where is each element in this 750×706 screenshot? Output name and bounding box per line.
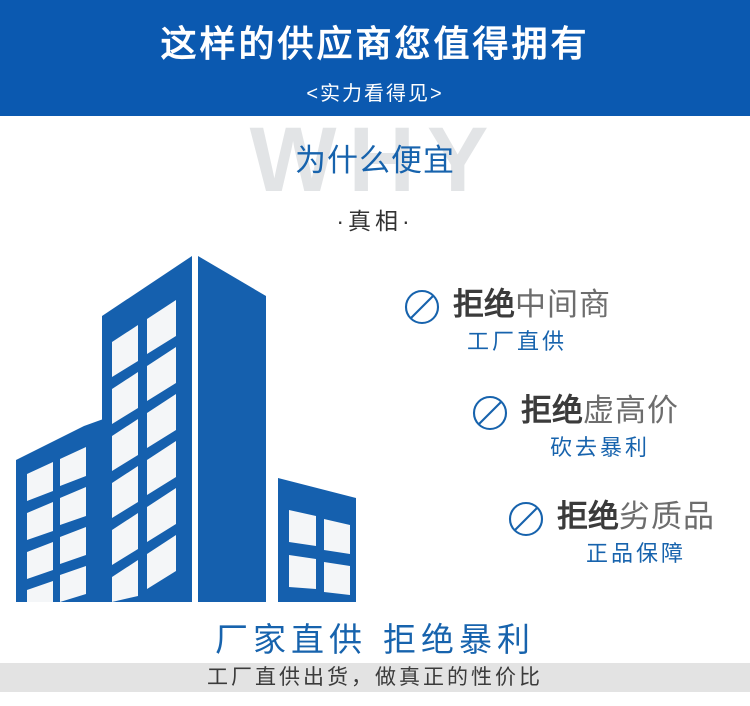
feature-strong-text: 拒绝 xyxy=(557,499,619,534)
footer-strip-text: 工厂直供出货，做真正的性价比 xyxy=(0,664,750,691)
list-item: 拒绝虚高价 砍去暴利 xyxy=(471,392,679,461)
city-buildings-illustration xyxy=(6,248,396,606)
feature-headline: 拒绝中间商 xyxy=(453,287,611,322)
prohibition-icon xyxy=(403,288,441,326)
list-item: 拒绝中间商 工厂直供 xyxy=(403,286,611,355)
feature-light-text: 虚高价 xyxy=(583,393,679,428)
feature-list: 拒绝中间商 工厂直供 拒绝虚高价 砍去暴利 xyxy=(395,286,750,596)
center-tower-side xyxy=(198,256,266,602)
feature-subtext: 正品保障 xyxy=(557,540,715,567)
footer-headline: 厂家直供拒绝暴利 xyxy=(0,620,750,660)
feature-headline: 拒绝虚高价 xyxy=(521,393,679,428)
feature-strong-text: 拒绝 xyxy=(453,287,515,322)
truth-label: ·真相· xyxy=(0,208,750,235)
header-subtitle: <实力看得见> xyxy=(0,82,750,106)
feature-light-text: 劣质品 xyxy=(619,499,715,534)
promo-page: 这样的供应商您值得拥有 <实力看得见> WHY 为什么便宜 ·真相· xyxy=(0,0,750,706)
footer-headline-right: 拒绝暴利 xyxy=(383,621,535,658)
feature-light-text: 中间商 xyxy=(515,287,611,322)
footer-headline-left: 厂家直供 xyxy=(215,621,367,658)
feature-headline: 拒绝劣质品 xyxy=(557,499,715,534)
prohibition-icon xyxy=(471,394,509,432)
feature-subtext: 工厂直供 xyxy=(453,328,611,355)
feature-subtext: 砍去暴利 xyxy=(521,434,679,461)
page-title: 这样的供应商您值得拥有 xyxy=(0,23,750,65)
list-item: 拒绝劣质品 正品保障 xyxy=(507,498,715,567)
why-heading-chinese: 为什么便宜 xyxy=(0,143,750,179)
feature-strong-text: 拒绝 xyxy=(521,393,583,428)
prohibition-icon xyxy=(507,500,545,538)
